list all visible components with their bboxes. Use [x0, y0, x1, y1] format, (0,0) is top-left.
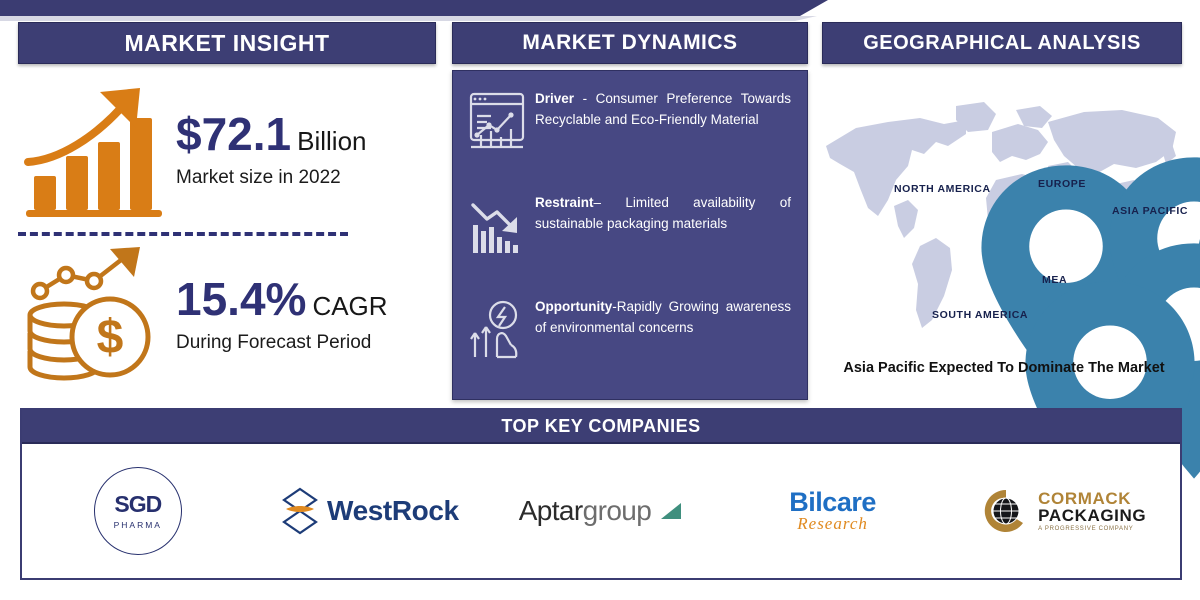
logo-cell-cormack[interactable]: CORMACK PACKAGING A PROGRESSIVE COMPANY [964, 466, 1164, 556]
svg-text:$: $ [97, 311, 124, 364]
logo-cell-westrock[interactable]: WestRock [269, 466, 469, 556]
top-key-companies-panel: TOP KEY COMPANIES SGD PHARMA WestRock [20, 408, 1182, 580]
bar-chart-growth-icon [22, 80, 172, 220]
company-logo-strip: SGD PHARMA WestRock Aptargroup [22, 444, 1180, 578]
top-key-companies-title: TOP KEY COMPANIES [22, 410, 1180, 444]
decorative-top-ribbon-shadow [0, 16, 795, 21]
dynamics-item-restraint: Restraint– Limited availability of susta… [463, 193, 799, 257]
dynamics-restraint-label: Restraint [535, 195, 594, 210]
cagr-value-row: 15.4%CAGR [176, 276, 388, 322]
dynamics-restraint-separator: – [594, 195, 626, 210]
dynamics-item-opportunity: Opportunity-Rapidly Growing awareness of… [463, 297, 799, 361]
market-insight-body: $72.1Billion Market size in 2022 $ [18, 70, 436, 400]
dynamics-opportunity-label: Opportunity [535, 299, 612, 314]
bilcare-wordmark: Bilcare [789, 489, 876, 516]
dynamics-driver-separator: - [574, 91, 596, 106]
market-size-text: $72.1Billion Market size in 2022 [176, 111, 367, 189]
aptar-dark: Aptar [519, 495, 583, 526]
dynamics-driver-label: Driver [535, 91, 574, 106]
cormack-wordmark: CORMACK PACKAGING A PROGRESSIVE COMPANY [1038, 490, 1146, 533]
cormack-line2: PACKAGING [1038, 507, 1146, 524]
map-label-asia-pacific: ASIA PACIFIC [1112, 205, 1188, 217]
cormack-line3: A PROGRESSIVE COMPANY [1038, 526, 1146, 532]
market-insight-title: MARKET INSIGHT [18, 22, 436, 64]
cagr-caption: During Forecast Period [176, 332, 388, 354]
sgd-subtext: PHARMA [114, 520, 162, 530]
opportunity-hand-bulb-icon [467, 299, 527, 361]
westrock-logo: WestRock [280, 487, 459, 535]
sgd-wordmark: SGD [114, 493, 161, 516]
bilcare-research-logo: Bilcare Research [789, 489, 876, 534]
cagr-unit: CAGR [312, 291, 387, 321]
section-divider-dashed [18, 232, 348, 236]
cormack-packaging-logo: CORMACK PACKAGING A PROGRESSIVE COMPANY [982, 487, 1146, 535]
cagr-text: 15.4%CAGR During Forecast Period [176, 276, 388, 354]
geographical-analysis-caption: Asia Pacific Expected To Dominate The Ma… [816, 360, 1192, 376]
cormack-globe-icon [982, 487, 1030, 535]
dynamics-item-driver: Driver - Consumer Preference Towards Rec… [463, 89, 799, 153]
aptargroup-wordmark: Aptargroup [519, 495, 652, 527]
aptar-grey: group [583, 495, 652, 526]
decorative-top-ribbon [0, 0, 800, 16]
map-label-europe: EUROPE [1038, 178, 1086, 190]
westrock-wordmark: WestRock [327, 495, 459, 527]
logo-cell-sgd[interactable]: SGD PHARMA [38, 466, 238, 556]
aptargroup-triangle-icon [659, 501, 683, 521]
map-label-south-america: SOUTH AMERICA [932, 309, 1028, 321]
world-map: NORTH AMERICAEUROPEASIA PACIFICMEASOUTH … [816, 88, 1192, 338]
map-label-north-america: NORTH AMERICA [894, 183, 991, 195]
dynamics-restraint-text: Restraint– Limited availability of susta… [535, 193, 791, 235]
stat-market-size: $72.1Billion Market size in 2022 [22, 80, 367, 220]
logo-cell-bilcare[interactable]: Bilcare Research [733, 466, 933, 556]
cagr-value: 15.4% [176, 273, 306, 325]
analytics-dashboard-icon [467, 91, 527, 153]
market-dynamics-title: MARKET DYNAMICS [452, 22, 808, 64]
infographic-root: MARKET INSIGHT $72.1Bil [0, 0, 1200, 600]
market-dynamics-panel: Driver - Consumer Preference Towards Rec… [452, 70, 808, 400]
bilcare-subtext: Research [797, 514, 868, 534]
dynamics-driver-text: Driver - Consumer Preference Towards Rec… [535, 89, 791, 131]
market-size-caption: Market size in 2022 [176, 167, 367, 189]
coins-dollar-growth-icon: $ [22, 245, 172, 385]
sgd-pharma-logo: SGD PHARMA [94, 467, 182, 555]
westrock-diamond-icon [280, 487, 320, 535]
market-size-unit: Billion [297, 126, 366, 156]
geographical-analysis-body: NORTH AMERICAEUROPEASIA PACIFICMEASOUTH … [816, 78, 1192, 400]
declining-bar-chart-icon [467, 195, 527, 257]
cormack-line1: CORMACK [1038, 490, 1146, 507]
aptargroup-logo: Aptargroup [519, 495, 684, 527]
market-size-value: $72.1 [176, 108, 291, 160]
market-size-value-row: $72.1Billion [176, 111, 367, 157]
dynamics-opportunity-text: Opportunity-Rapidly Growing awareness of… [535, 297, 791, 339]
logo-cell-aptargroup[interactable]: Aptargroup [501, 466, 701, 556]
geographical-analysis-title: GEOGRAPHICAL ANALYSIS [822, 22, 1182, 64]
stat-cagr: $ 15.4%CAGR During Forecast Period [22, 245, 388, 385]
